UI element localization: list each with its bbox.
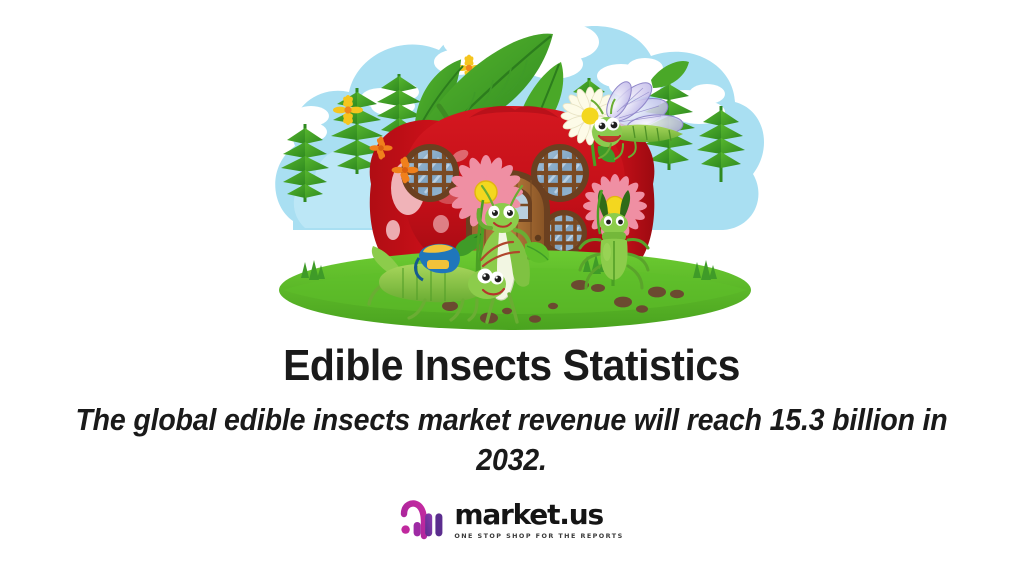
market-us-logo[interactable]: market.us ONE STOP SHOP FOR THE REPORTS	[0, 500, 1023, 540]
logo-tagline: ONE STOP SHOP FOR THE REPORTS	[454, 533, 623, 539]
logo-wordmark: market.us	[454, 501, 603, 529]
page-title: Edible Insects Statistics	[36, 342, 987, 390]
market-us-logo-mark	[399, 500, 445, 540]
page-subtitle: The global edible insects market revenue…	[41, 400, 982, 479]
apple-house-illustration	[253, 6, 773, 336]
infographic-page: Edible Insects Statistics The global edi…	[0, 0, 1023, 577]
logo-text-block: market.us ONE STOP SHOP FOR THE REPORTS	[454, 501, 623, 539]
